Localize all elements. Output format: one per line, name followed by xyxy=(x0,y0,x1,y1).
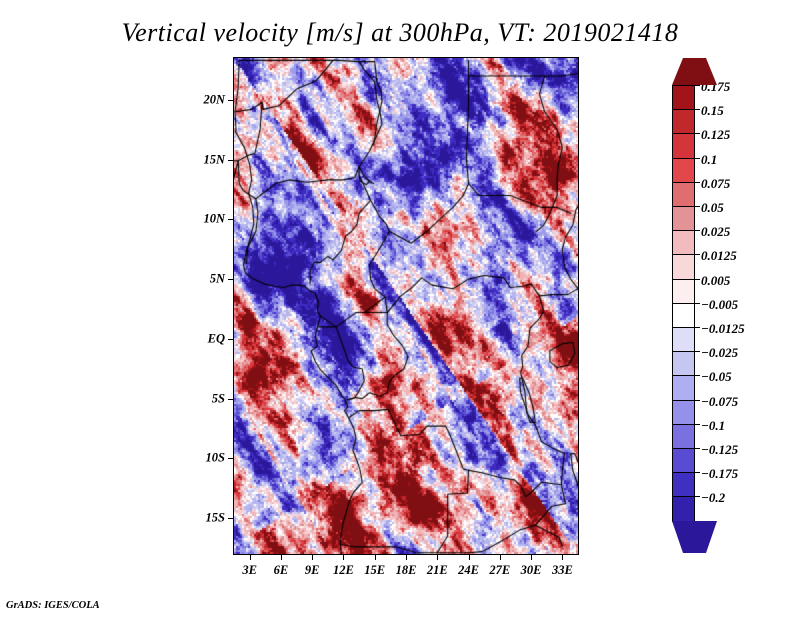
colorbar-label: 0.025 xyxy=(701,224,730,240)
colorbar-tick xyxy=(695,327,700,328)
colorbar-label: 0.1 xyxy=(701,152,717,168)
colorbar-label: 0.0125 xyxy=(701,248,737,264)
colorbar-segment xyxy=(672,133,695,158)
x-axis-tick xyxy=(312,555,313,560)
y-axis-tick xyxy=(228,399,233,400)
y-axis-tick xyxy=(228,518,233,519)
y-axis-tick xyxy=(228,160,233,161)
y-axis-label-10n: 10N xyxy=(191,212,225,227)
footer-credit: GrADS: IGES/COLA xyxy=(6,600,100,611)
y-axis-label-20n: 20N xyxy=(191,92,225,107)
colorbar-tick xyxy=(695,133,700,134)
plot-frame xyxy=(233,57,579,555)
x-axis-tick xyxy=(531,555,532,560)
colorbar-segment xyxy=(672,472,695,497)
colorbar-label: −0.005 xyxy=(701,297,738,313)
chart-page: Vertical velocity [m/s] at 300hPa, VT: 2… xyxy=(0,0,800,618)
y-axis-label-5n: 5N xyxy=(191,272,225,287)
colorbar-tick xyxy=(695,448,700,449)
colorbar-label: −0.05 xyxy=(701,369,732,385)
x-axis-tick xyxy=(343,555,344,560)
colorbar-tick xyxy=(695,351,700,352)
x-axis-label-33e: 33E xyxy=(552,563,573,578)
colorbar-label: −0.075 xyxy=(701,394,738,410)
map-plot-area xyxy=(233,57,579,555)
colorbar-segment xyxy=(672,230,695,255)
colorbar-tick xyxy=(695,85,700,86)
country-borders-overlay xyxy=(234,58,578,554)
colorbar-max-arrow-icon xyxy=(672,58,717,85)
colorbar-label: 0.15 xyxy=(701,103,724,119)
x-axis-label-30e: 30E xyxy=(521,563,542,578)
colorbar-tick xyxy=(695,375,700,376)
y-axis-tick xyxy=(228,279,233,280)
x-axis-label-24e: 24E xyxy=(458,563,479,578)
y-axis-label-15s: 15S xyxy=(191,511,225,526)
colorbar-min-arrow-icon xyxy=(672,521,717,553)
colorbar-tick xyxy=(695,206,700,207)
x-axis-label-12e: 12E xyxy=(333,563,354,578)
x-axis-label-6e: 6E xyxy=(274,563,289,578)
y-axis-label-5s: 5S xyxy=(191,391,225,406)
colorbar-label: −0.0125 xyxy=(701,321,745,337)
colorbar-label: 0.005 xyxy=(701,273,730,289)
x-axis-tick xyxy=(562,555,563,560)
x-axis-label-15e: 15E xyxy=(364,563,385,578)
x-axis-label-18e: 18E xyxy=(396,563,417,578)
colorbar-segment xyxy=(672,375,695,400)
colorbar-label: 0.05 xyxy=(701,200,724,216)
y-axis-tick xyxy=(228,458,233,459)
colorbar-label: 0.125 xyxy=(701,127,730,143)
colorbar-tick xyxy=(695,158,700,159)
colorbar-tick xyxy=(695,109,700,110)
colorbar-tick xyxy=(695,424,700,425)
colorbar-segment xyxy=(672,400,695,425)
y-axis-tick xyxy=(228,100,233,101)
x-axis-tick xyxy=(437,555,438,560)
colorbar: 0.1750.150.1250.10.0750.050.0250.01250.0… xyxy=(672,58,695,553)
x-axis-label-9e: 9E xyxy=(305,563,320,578)
colorbar-segment xyxy=(672,206,695,231)
colorbar-segment xyxy=(672,351,695,376)
colorbar-segment xyxy=(672,182,695,207)
y-axis-tick xyxy=(228,219,233,220)
colorbar-segment xyxy=(672,327,695,352)
colorbar-segment xyxy=(672,303,695,328)
colorbar-segment xyxy=(672,448,695,473)
colorbar-tick xyxy=(695,230,700,231)
x-axis-label-3e: 3E xyxy=(242,563,257,578)
y-axis-label-15n: 15N xyxy=(191,152,225,167)
colorbar-segment xyxy=(672,109,695,134)
colorbar-segment xyxy=(672,85,695,110)
y-axis-label-eq: EQ xyxy=(191,331,225,346)
colorbar-label: 0.075 xyxy=(701,176,730,192)
colorbar-segment xyxy=(672,158,695,183)
page-title: Vertical velocity [m/s] at 300hPa, VT: 2… xyxy=(0,18,800,48)
colorbar-tick xyxy=(695,472,700,473)
colorbar-segment xyxy=(672,496,695,521)
x-axis-tick xyxy=(250,555,251,560)
x-axis-label-27e: 27E xyxy=(489,563,510,578)
colorbar-segment xyxy=(672,279,695,304)
y-axis-label-10s: 10S xyxy=(191,451,225,466)
x-axis-label-21e: 21E xyxy=(427,563,448,578)
x-axis-tick xyxy=(281,555,282,560)
colorbar-label: −0.1 xyxy=(701,418,725,434)
colorbar-tick xyxy=(695,496,700,497)
colorbar-label: −0.025 xyxy=(701,345,738,361)
colorbar-tick xyxy=(695,182,700,183)
colorbar-tick xyxy=(695,400,700,401)
colorbar-label: −0.2 xyxy=(701,490,725,506)
x-axis-tick xyxy=(469,555,470,560)
colorbar-label: −0.175 xyxy=(701,466,738,482)
colorbar-label: −0.125 xyxy=(701,442,738,458)
x-axis-tick xyxy=(500,555,501,560)
colorbar-segment xyxy=(672,424,695,449)
colorbar-tick xyxy=(695,254,700,255)
x-axis-tick xyxy=(375,555,376,560)
colorbar-tick xyxy=(695,303,700,304)
colorbar-segment xyxy=(672,254,695,279)
y-axis-tick xyxy=(228,339,233,340)
x-axis-tick xyxy=(406,555,407,560)
colorbar-tick xyxy=(695,279,700,280)
